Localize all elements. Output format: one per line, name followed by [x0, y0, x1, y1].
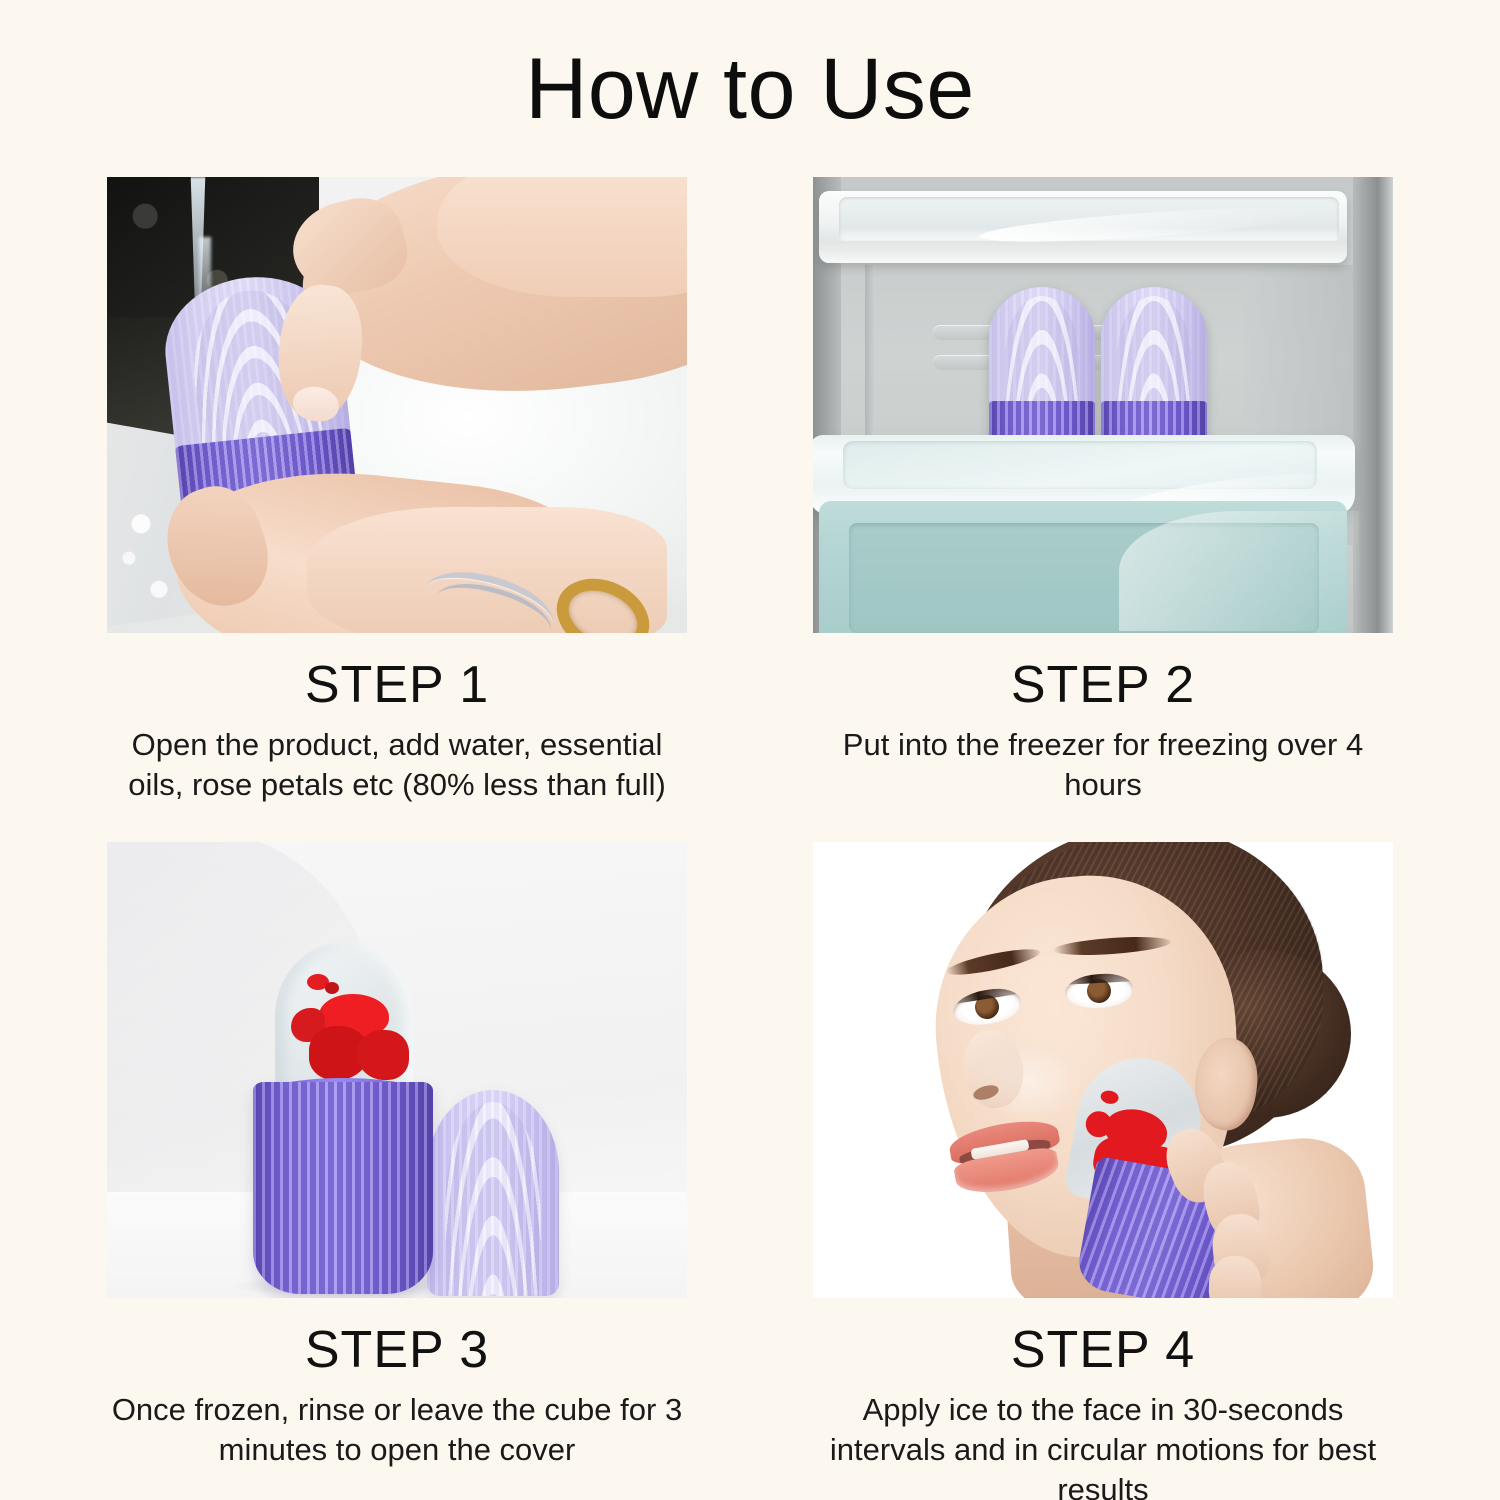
- fridge-crisper-drawer: [819, 501, 1347, 633]
- step-card-1: STEP 1 Open the product, add water, esse…: [107, 177, 687, 806]
- step-3-title: STEP 3: [107, 1320, 687, 1380]
- step-1-title: STEP 1: [107, 655, 687, 715]
- step-1-description: Open the product, add water, essential o…: [107, 725, 687, 806]
- step-3-image: [107, 842, 687, 1298]
- step-1-image: [107, 177, 687, 633]
- rose-petal: [325, 982, 339, 994]
- how-to-use-infographic: How to Use: [0, 0, 1500, 1500]
- steps-grid: STEP 1 Open the product, add water, esse…: [107, 177, 1393, 1477]
- step-3-description: Once frozen, rinse or leave the cube for…: [107, 1390, 687, 1471]
- product-base: [253, 1082, 433, 1294]
- step-2-image: [813, 177, 1393, 633]
- step-card-4: STEP 4 Apply ice to the face in 30-secon…: [813, 842, 1393, 1500]
- rose-petal: [1100, 1089, 1120, 1105]
- detached-product-cover: [427, 1090, 559, 1296]
- cover-ribbing: [1101, 287, 1207, 406]
- step-4-title: STEP 4: [813, 1320, 1393, 1380]
- fridge-upper-shelf: [819, 191, 1347, 263]
- step-card-3: STEP 3 Once frozen, rinse or leave the c…: [107, 842, 687, 1500]
- step-2-title: STEP 2: [813, 655, 1393, 715]
- step-4-image: [813, 842, 1393, 1298]
- drawer-reflection: [1119, 511, 1359, 631]
- cover-ribbing: [989, 287, 1095, 406]
- page-title: How to Use: [0, 42, 1500, 137]
- product-cover: [989, 287, 1095, 406]
- step-2-description: Put into the freezer for freezing over 4…: [813, 725, 1393, 806]
- product-cover: [1101, 287, 1207, 406]
- fridge-side-wall-right: [1353, 177, 1393, 633]
- step-4-description: Apply ice to the face in 30-seconds inte…: [813, 1390, 1393, 1500]
- rose-petal: [357, 1030, 409, 1080]
- step-card-2: STEP 2 Put into the freezer for freezing…: [813, 177, 1393, 806]
